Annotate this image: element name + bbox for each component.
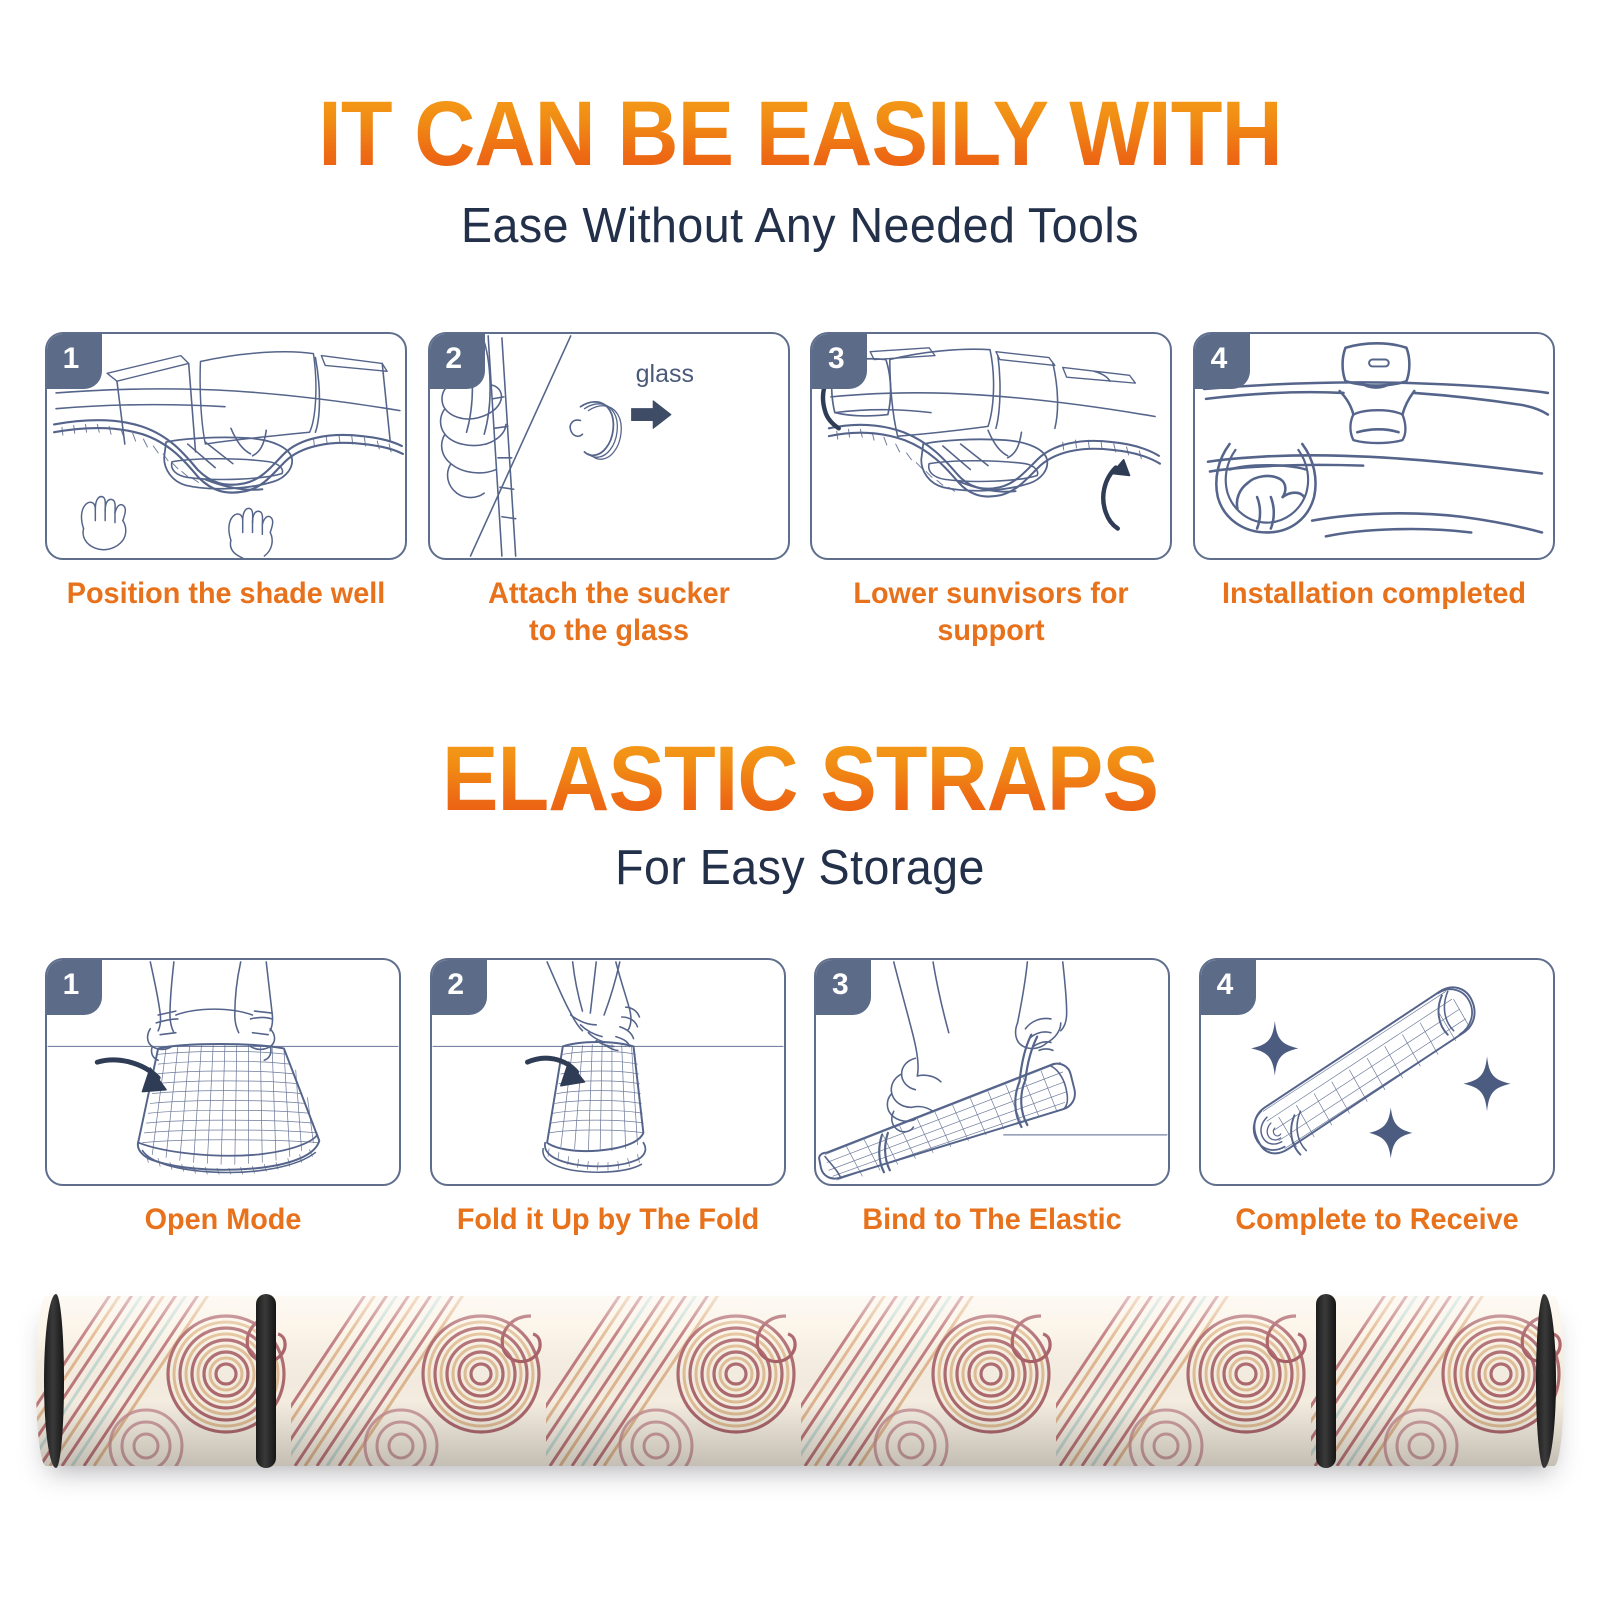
step-number-badge: 3 (811, 333, 867, 389)
step-storage-4: 4 (1199, 958, 1555, 1239)
glass-label: glass (636, 360, 694, 389)
step-number-badge: 2 (429, 333, 485, 389)
step-panel-illustration: 3 (814, 958, 1170, 1186)
step-caption: Fold it Up by The Fold (437, 1202, 779, 1239)
step-storage-3: 3 (814, 958, 1170, 1239)
step-number-badge: 3 (815, 959, 871, 1015)
step-caption: Installation completed (1200, 576, 1548, 613)
elastic-band (256, 1294, 276, 1468)
elastic-band (44, 1294, 64, 1468)
step-caption: Position the shade well (52, 576, 400, 613)
storage-subhead: For Easy Storage (40, 840, 1560, 896)
step-install-3: 3 (810, 332, 1172, 649)
installation-steps-row: 1 (45, 332, 1555, 649)
step-install-2: 2 (428, 332, 790, 649)
step-number-badge: 4 (1200, 959, 1256, 1015)
step-storage-2: 2 (430, 958, 786, 1239)
installation-headline-block: IT CAN BE EASILY WITH (0, 88, 1600, 180)
step-caption: Bind to The Elastic (821, 1202, 1163, 1239)
rolled-sunshade-product-photo (36, 1296, 1564, 1466)
installation-subhead: Ease Without Any Needed Tools (40, 198, 1560, 254)
step-panel-illustration: 1 (45, 332, 407, 560)
storage-subhead-block: For Easy Storage (0, 840, 1600, 896)
storage-headline: ELASTIC STRAPS (64, 733, 1536, 825)
step-panel-illustration: 4 (1193, 332, 1555, 560)
step-storage-1: 1 (45, 958, 401, 1239)
step-caption: Open Mode (52, 1202, 394, 1239)
step-number-badge: 2 (431, 959, 487, 1015)
step-caption: Lower sunvisors for support (818, 576, 1166, 649)
step-panel-illustration: 3 (810, 332, 1172, 560)
step-panel-illustration: 2 (428, 332, 790, 560)
step-install-1: 1 (45, 332, 407, 613)
step-panel-illustration: 2 (430, 958, 786, 1186)
storage-steps-row: 1 (45, 958, 1555, 1239)
step-number-badge: 1 (46, 959, 102, 1015)
step-number-badge: 4 (1194, 333, 1250, 389)
step-number-badge: 1 (46, 333, 102, 389)
elastic-band (1316, 1294, 1336, 1468)
step-panel-illustration: 1 (45, 958, 401, 1186)
step-panel-illustration: 4 (1199, 958, 1555, 1186)
step-caption: Complete to Receive (1206, 1202, 1548, 1239)
step-caption: Attach the sucker to the glass (435, 576, 783, 649)
installation-headline: IT CAN BE EASILY WITH (64, 88, 1536, 180)
installation-subhead-block: Ease Without Any Needed Tools (0, 198, 1600, 254)
storage-headline-block: ELASTIC STRAPS (0, 733, 1600, 825)
step-install-4: 4 (1193, 332, 1555, 613)
